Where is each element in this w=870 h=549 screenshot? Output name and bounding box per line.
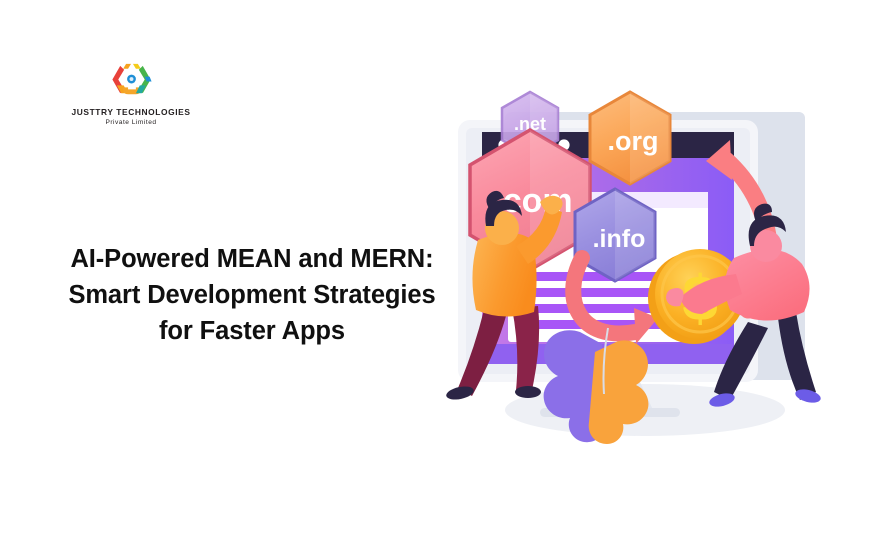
justtry-hexagon-logo-mark	[101, 57, 161, 104]
hexagon-org-label: .org	[608, 126, 659, 156]
logo-company-suffix: Private Limited	[56, 119, 206, 126]
hero-illustration: .net .org .com .info	[430, 60, 870, 500]
page-title: AI-Powered MEAN and MERN: Smart Developm…	[66, 241, 438, 349]
hexagon-info-label: .info	[593, 225, 646, 253]
logo-company-name: JUSTTRY TECHNOLOGIES	[56, 108, 206, 117]
company-logo[interactable]: JUSTTRY TECHNOLOGIES Private Limited	[56, 57, 206, 126]
banner-root: JUSTTRY TECHNOLOGIES Private Limited AI-…	[0, 0, 870, 549]
person-left-shoe-front	[515, 386, 541, 398]
